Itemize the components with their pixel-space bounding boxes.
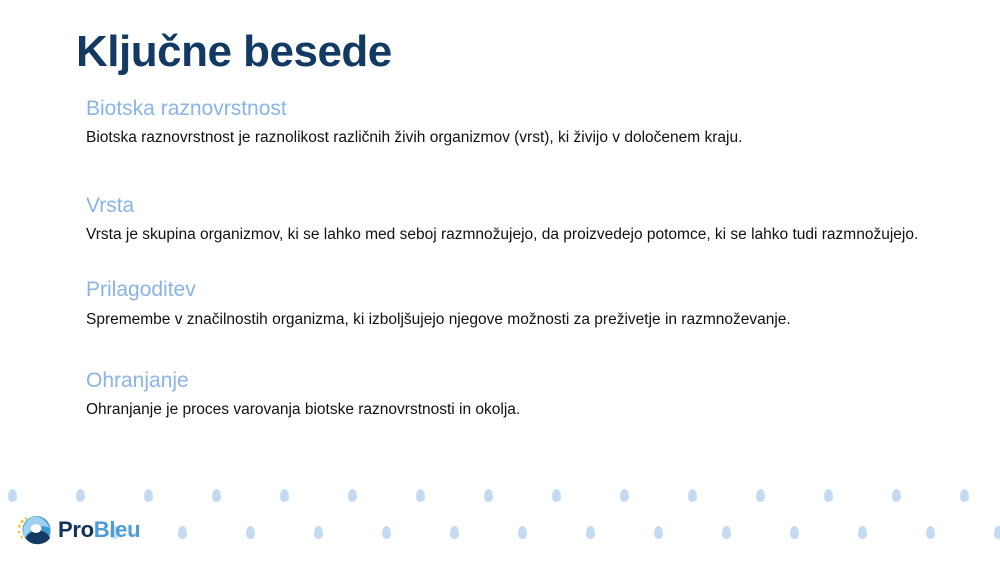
droplet-icon bbox=[892, 489, 901, 502]
droplet-icon bbox=[382, 526, 391, 539]
droplet-icon bbox=[314, 526, 323, 539]
spacer bbox=[86, 330, 946, 368]
droplet-icon bbox=[450, 526, 459, 539]
droplet-icon bbox=[654, 526, 663, 539]
page-title: Ključne besede bbox=[76, 28, 392, 76]
term-heading: Ohranjanje bbox=[86, 368, 946, 394]
droplet-icon bbox=[756, 489, 765, 502]
droplet-icon bbox=[76, 489, 85, 502]
droplet-icon bbox=[926, 526, 935, 539]
droplet-icon bbox=[722, 526, 731, 539]
term-block-biodiversity: Biotska raznovrstnost Biotska raznovrstn… bbox=[86, 96, 946, 149]
droplet-icon bbox=[348, 489, 357, 502]
droplet-icon bbox=[960, 489, 969, 502]
probleu-wordmark: ProBleu bbox=[58, 519, 140, 541]
droplet-icon bbox=[858, 526, 867, 539]
term-block-adaptation: Prilagoditev Spremembe v značilnostih or… bbox=[86, 277, 946, 330]
droplet-icon bbox=[212, 489, 221, 502]
term-heading: Prilagoditev bbox=[86, 277, 946, 303]
logo-word-bleu: Bleu bbox=[94, 517, 140, 542]
probleu-logo: ProBleu bbox=[16, 512, 140, 548]
term-block-conservation: Ohranjanje Ohranjanje je proces varovanj… bbox=[86, 368, 946, 421]
water-droplet-pattern bbox=[0, 480, 1000, 563]
spacer bbox=[86, 245, 946, 277]
droplet-icon bbox=[790, 526, 799, 539]
droplet-icon bbox=[518, 526, 527, 539]
term-block-species: Vrsta Vrsta je skupina organizmov, ki se… bbox=[86, 193, 946, 246]
term-definition: Vrsta je skupina organizmov, ki se lahko… bbox=[86, 225, 931, 245]
probleu-water-swirl-logo bbox=[16, 512, 52, 548]
droplet-icon bbox=[620, 489, 629, 502]
droplet-icon bbox=[144, 489, 153, 502]
droplet-icon bbox=[416, 489, 425, 502]
term-definition: Biotska raznovrstnost je raznolikost raz… bbox=[86, 128, 931, 148]
slide: Ključne besede Biotska raznovrstnost Bio… bbox=[0, 0, 1000, 563]
keyword-list: Biotska raznovrstnost Biotska raznovrstn… bbox=[86, 96, 946, 421]
logo-word-pro: Pro bbox=[58, 517, 94, 542]
droplet-icon bbox=[8, 489, 17, 502]
droplet-icon bbox=[280, 489, 289, 502]
term-definition: Spremembe v značilnostih organizma, ki i… bbox=[86, 310, 931, 330]
term-definition: Ohranjanje je proces varovanja biotske r… bbox=[86, 400, 931, 420]
droplet-icon bbox=[824, 489, 833, 502]
term-heading: Vrsta bbox=[86, 193, 946, 219]
droplet-icon bbox=[484, 489, 493, 502]
term-heading: Biotska raznovrstnost bbox=[86, 96, 946, 122]
droplet-icon bbox=[994, 526, 1000, 539]
droplet-icon bbox=[552, 489, 561, 502]
droplet-icon bbox=[586, 526, 595, 539]
droplet-icon bbox=[178, 526, 187, 539]
spacer bbox=[86, 149, 946, 193]
droplet-icon bbox=[688, 489, 697, 502]
droplet-icon bbox=[246, 526, 255, 539]
